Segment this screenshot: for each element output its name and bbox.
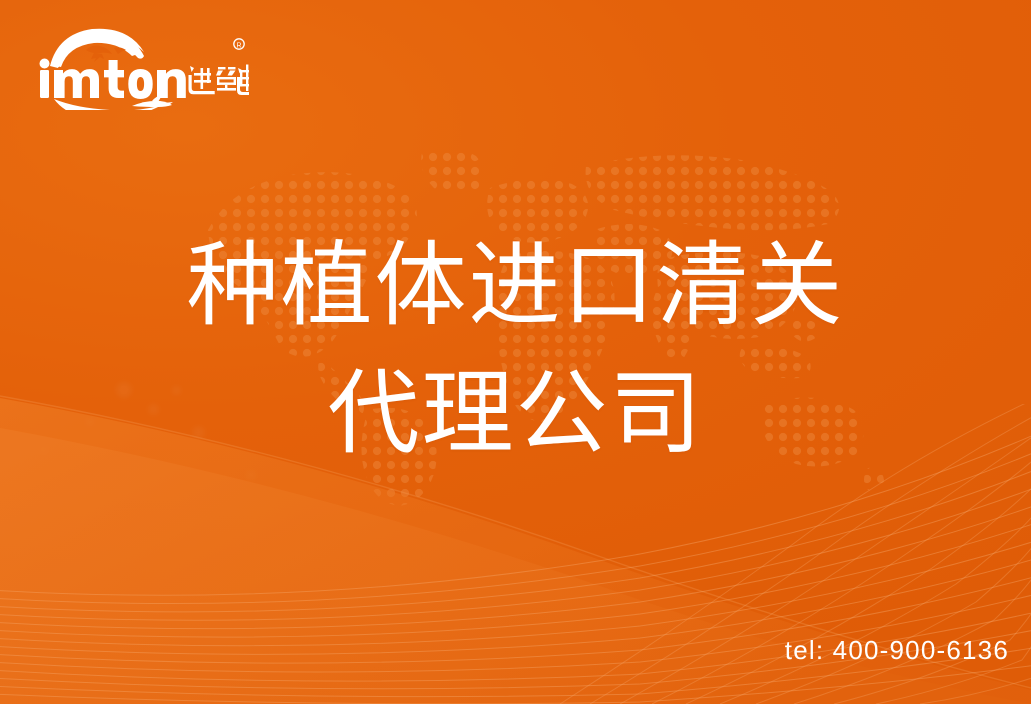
page-title: 种植体进口清关 代理公司	[0, 222, 1031, 478]
promo-banner: R 种植体进口清关 代理公司 tel: 400-900-6136	[0, 0, 1031, 704]
headline-line-1: 种植体进口清关	[0, 222, 1031, 350]
imton-logo[interactable]: R	[34, 26, 249, 110]
contact-phone[interactable]: tel: 400-900-6136	[785, 635, 1009, 666]
headline-line-2: 代理公司	[0, 350, 1031, 478]
svg-text:R: R	[236, 42, 241, 49]
